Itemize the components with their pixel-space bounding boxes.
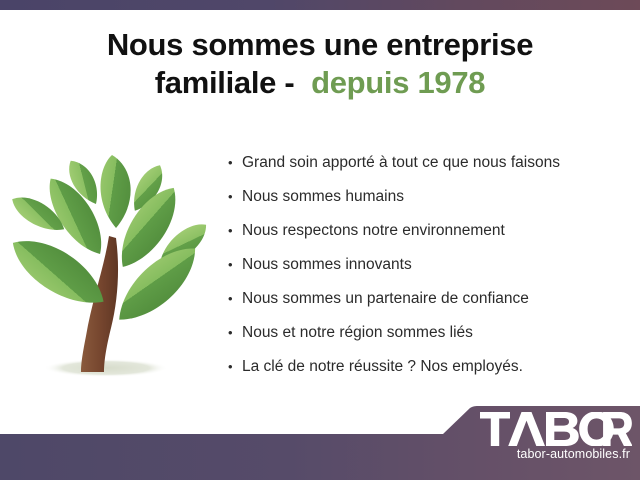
list-item-label: Nous et notre région sommes liés <box>242 316 628 350</box>
list-item-label: Nous respectons notre environnement <box>242 214 628 248</box>
bullet-icon: • <box>228 316 242 350</box>
list-item: • Nous sommes innovants <box>228 248 628 282</box>
list-item-label: Nous sommes un partenaire de confiance <box>242 282 628 316</box>
list-item: • Grand soin apporté à tout ce que nous … <box>228 146 628 180</box>
headline-line-2-plain: familiale - <box>155 65 311 100</box>
bullet-icon: • <box>228 214 242 248</box>
brand-logo[interactable]: tabor-automobiles.fr <box>464 412 632 461</box>
tree-trunk <box>81 236 118 372</box>
list-item: • Nous sommes humains <box>228 180 628 214</box>
tree-illustration <box>8 150 218 385</box>
brand-wordmark <box>464 412 632 446</box>
brand-tagline: tabor-automobiles.fr <box>464 447 632 461</box>
page-title: Nous sommes une entreprise familiale - d… <box>0 26 640 102</box>
slide-canvas: Nous sommes une entreprise familiale - d… <box>0 0 640 480</box>
list-item: • La clé de notre réussite ? Nos employé… <box>228 350 628 384</box>
top-accent-bar <box>0 0 640 10</box>
list-item: • Nous respectons notre environnement <box>228 214 628 248</box>
headline-line-2: familiale - depuis 1978 <box>0 64 640 102</box>
bullet-icon: • <box>228 282 242 316</box>
bullet-icon: • <box>228 350 242 384</box>
list-item-label: La clé de notre réussite ? Nos employés. <box>242 350 628 384</box>
bullet-icon: • <box>228 248 242 282</box>
headline-line-1: Nous sommes une entreprise <box>0 26 640 64</box>
bullet-icon: • <box>228 180 242 214</box>
list-item-label: Nous sommes humains <box>242 180 628 214</box>
list-item-label: Nous sommes innovants <box>242 248 628 282</box>
list-item: • Nous et notre région sommes liés <box>228 316 628 350</box>
values-list: • Grand soin apporté à tout ce que nous … <box>228 146 628 384</box>
bullet-icon: • <box>228 146 242 180</box>
headline-accent-year: depuis 1978 <box>311 65 485 100</box>
list-item: • Nous sommes un partenaire de confiance <box>228 282 628 316</box>
list-item-label: Grand soin apporté à tout ce que nous fa… <box>242 146 628 180</box>
tree-shadow <box>44 359 168 377</box>
